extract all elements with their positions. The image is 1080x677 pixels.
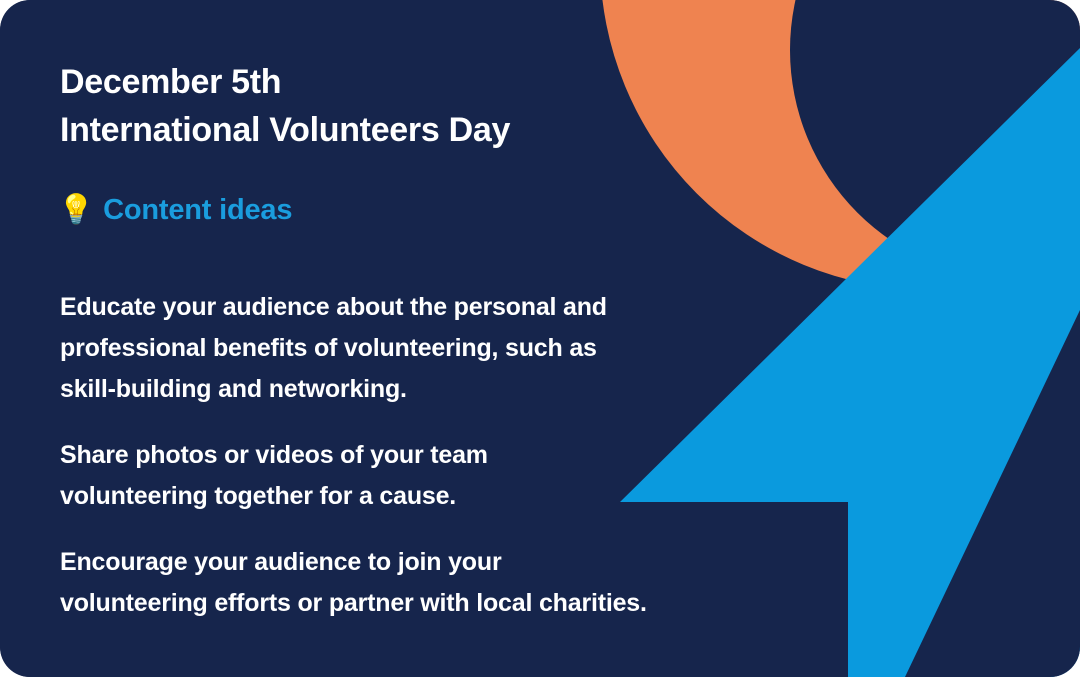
card-content: December 5th International Volunteers Da… xyxy=(0,0,760,677)
navy-corner-wedge xyxy=(905,310,1080,677)
content-ideas-label: Content ideas xyxy=(103,196,292,225)
title-date: December 5th xyxy=(60,58,750,106)
page-title: December 5th International Volunteers Da… xyxy=(60,58,750,154)
list-item: Educate your audience about the personal… xyxy=(60,287,760,410)
content-ideas-list: Educate your audience about the personal… xyxy=(60,262,760,624)
navy-circle xyxy=(790,0,1080,280)
lightbulb-icon: 💡 xyxy=(58,196,94,225)
content-ideas-card: December 5th International Volunteers Da… xyxy=(0,0,1080,677)
title-occasion: International Volunteers Day xyxy=(60,106,750,154)
list-item: Encourage your audience to join your vol… xyxy=(60,542,760,624)
content-ideas-heading: 💡 Content ideas xyxy=(58,196,292,225)
list-item: Share photos or videos of your team volu… xyxy=(60,435,760,517)
